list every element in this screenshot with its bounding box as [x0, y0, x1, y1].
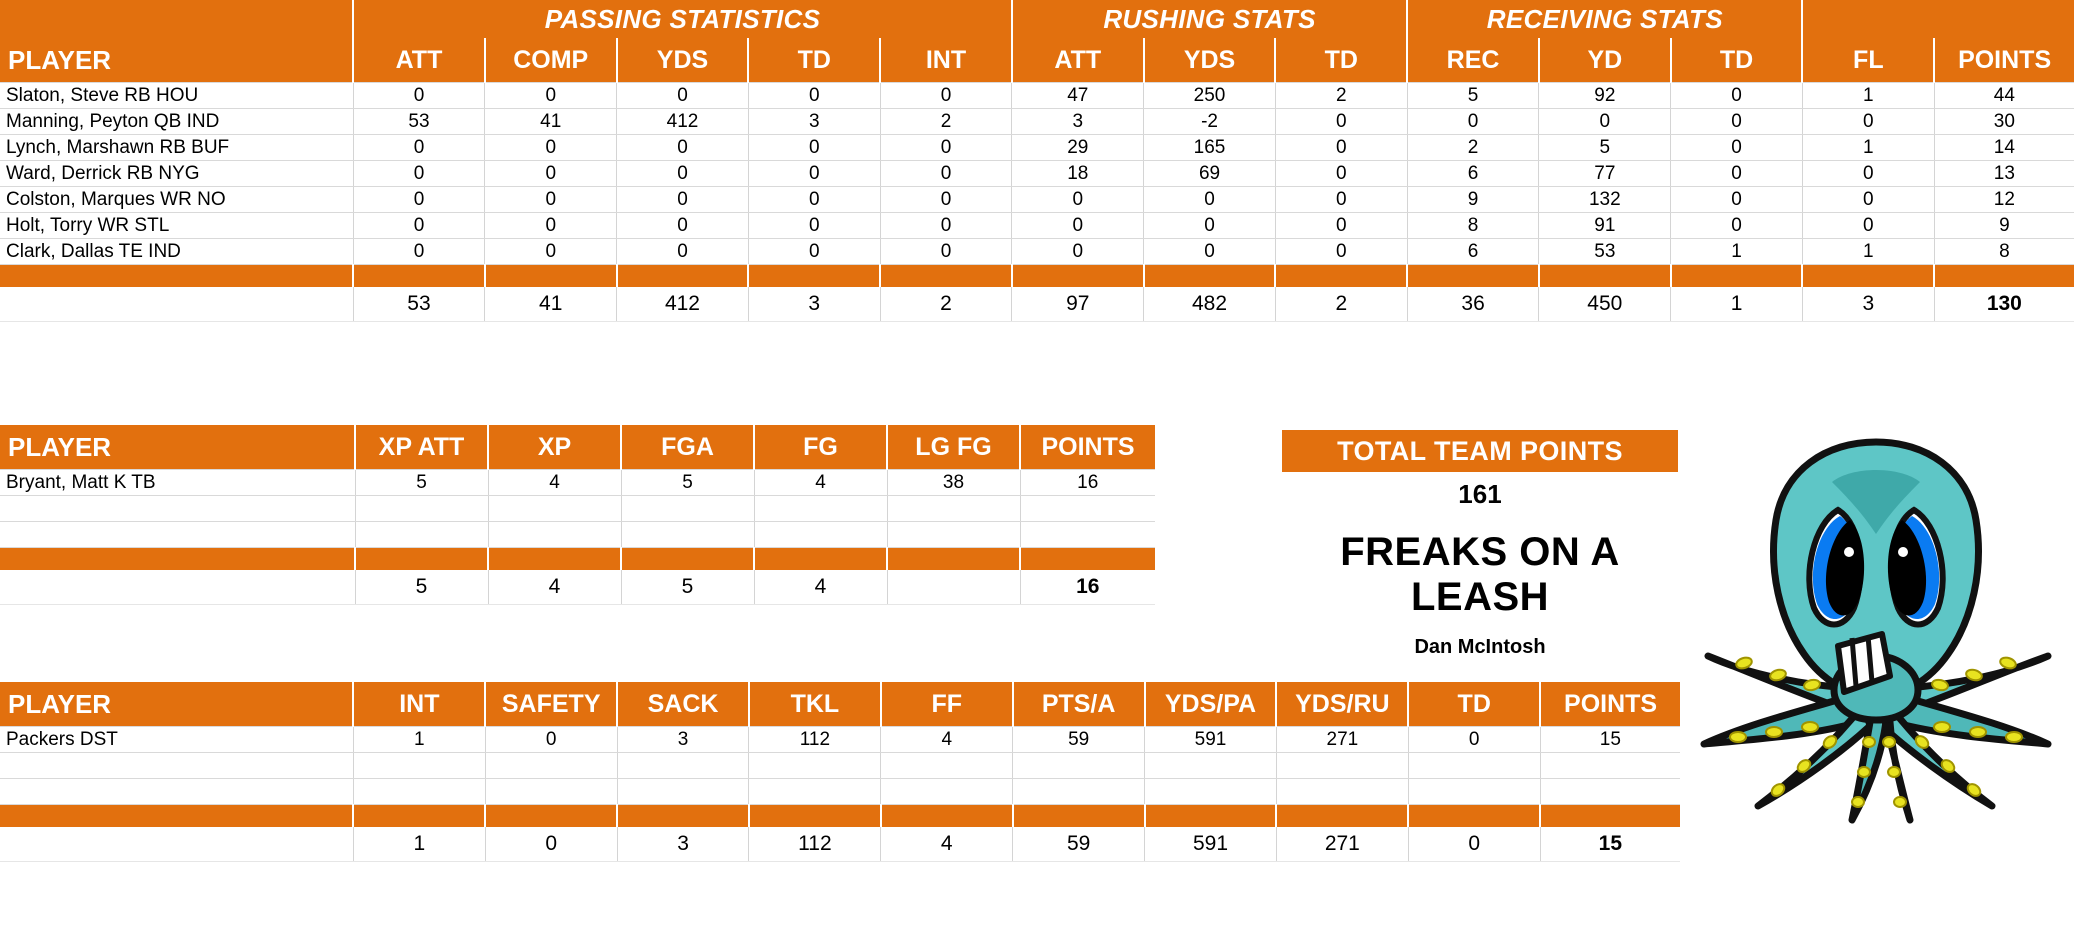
column-header-defense-player[interactable]: PLAYER	[0, 682, 353, 727]
empty-cell	[353, 753, 485, 779]
empty-cell	[1145, 779, 1277, 805]
total-cell: 97	[1012, 287, 1144, 322]
stat-cell: 271	[1276, 727, 1408, 753]
stat-cell: 0	[1275, 161, 1407, 187]
totals-separator-band	[0, 805, 1680, 828]
empty-cell	[488, 496, 621, 522]
column-header-rec-yd[interactable]: YD	[1539, 38, 1671, 83]
stat-cell: 6	[1407, 239, 1539, 265]
stat-cell: 3	[748, 109, 880, 135]
stat-cell: 77	[1539, 161, 1671, 187]
separator-cell	[887, 548, 1020, 571]
defense-table-body: Packers DST10311245959127101510311245959…	[0, 727, 1680, 862]
defense-stats-table: PLAYER INT SAFETY SACK TKL FF PTS/A YDS/…	[0, 682, 1680, 862]
stat-cell: 0	[617, 83, 749, 109]
total-cell: 53	[353, 287, 485, 322]
separator-cell	[1275, 265, 1407, 288]
stat-cell: 5	[355, 470, 488, 496]
total-cell: 4	[881, 827, 1013, 862]
stat-cell: 9	[1407, 187, 1539, 213]
totals-row: 5341412329748223645013130	[0, 287, 2074, 322]
total-cell: 5	[621, 570, 754, 605]
offense-stats-table: PASSING STATISTICS RUSHING STATS RECEIVI…	[0, 0, 2074, 322]
total-cell: 5	[355, 570, 488, 605]
separator-cell	[0, 548, 355, 571]
empty-row	[0, 496, 1155, 522]
stat-cell: 0	[485, 135, 617, 161]
stat-cell: 41	[485, 109, 617, 135]
stat-cell: 2	[880, 109, 1012, 135]
stat-cell: 165	[1144, 135, 1276, 161]
separator-cell	[488, 548, 621, 571]
stat-cell: 0	[1671, 109, 1803, 135]
totals-separator-band	[0, 265, 2074, 288]
table-row[interactable]: Clark, Dallas TE IND00000000653118	[0, 239, 2074, 265]
stat-cell: 0	[485, 213, 617, 239]
totals-row: 103112459591271015	[0, 827, 1680, 862]
octopus-mascot-icon	[1686, 424, 2066, 824]
stat-cell: 0	[1144, 187, 1276, 213]
stat-cell: 112	[749, 727, 881, 753]
total-cell: 2	[1275, 287, 1407, 322]
stat-cell: 132	[1539, 187, 1671, 213]
stat-cell: 1	[1802, 239, 1934, 265]
stat-cell: 0	[880, 187, 1012, 213]
separator-cell	[1013, 805, 1145, 828]
separator-cell	[355, 548, 488, 571]
stat-cell: 0	[617, 161, 749, 187]
stat-cell: 0	[748, 239, 880, 265]
separator-cell	[1539, 265, 1671, 288]
column-header-pass-comp[interactable]: COMP	[485, 38, 617, 83]
table-row[interactable]: Lynch, Marshawn RB BUF00000291650250114	[0, 135, 2074, 161]
empty-cell	[1540, 779, 1680, 805]
stat-cell: 0	[353, 187, 485, 213]
table-row[interactable]: Holt, Torry WR STL00000000891009	[0, 213, 2074, 239]
stat-cell: 0	[1802, 187, 1934, 213]
stat-cell: 0	[1802, 161, 1934, 187]
stat-cell: 0	[748, 213, 880, 239]
stat-cell: 0	[1012, 239, 1144, 265]
stat-cell: -2	[1144, 109, 1276, 135]
column-header-pass-int[interactable]: INT	[880, 38, 1012, 83]
empty-cell	[881, 779, 1013, 805]
empty-cell	[0, 522, 355, 548]
column-header-pass-td[interactable]: TD	[748, 38, 880, 83]
stat-cell: 0	[1275, 213, 1407, 239]
total-cell: 1	[1671, 287, 1803, 322]
column-header-pass-yds[interactable]: YDS	[617, 38, 749, 83]
stat-cell: 8	[1934, 239, 2074, 265]
empty-cell	[485, 779, 617, 805]
empty-cell	[355, 496, 488, 522]
column-header-def-int[interactable]: INT	[353, 682, 485, 727]
column-header-rush-yds[interactable]: YDS	[1144, 38, 1276, 83]
kicker-column-header-row: PLAYER XP ATT XP FGA FG LG FG POINTS	[0, 425, 1155, 470]
total-points-cell: 15	[1540, 827, 1680, 862]
separator-cell	[1540, 805, 1680, 828]
total-cell: 591	[1145, 827, 1277, 862]
totals-separator-band	[0, 548, 1155, 571]
empty-cell	[1276, 753, 1408, 779]
player-name-cell: Packers DST	[0, 727, 353, 753]
stat-cell: 2	[1275, 83, 1407, 109]
total-cell: 0	[1408, 827, 1540, 862]
stat-cell: 0	[1802, 109, 1934, 135]
empty-cell	[621, 522, 754, 548]
stat-cell: 0	[353, 239, 485, 265]
column-header-fg[interactable]: FG	[754, 425, 887, 470]
empty-cell	[1020, 522, 1155, 548]
stat-cell: 4	[488, 470, 621, 496]
empty-cell	[754, 522, 887, 548]
total-cell: 412	[617, 287, 749, 322]
separator-cell	[617, 265, 749, 288]
table-row[interactable]: Slaton, Steve RB HOU000004725025920144	[0, 83, 2074, 109]
stat-cell: 59	[1013, 727, 1145, 753]
separator-cell	[485, 805, 617, 828]
team-name: FREAKS ON A LEASH	[1282, 530, 1678, 620]
stat-cell: 0	[1671, 187, 1803, 213]
stat-cell: 1	[1802, 135, 1934, 161]
totals-label-cell	[0, 827, 353, 862]
player-name-cell: Manning, Peyton QB IND	[0, 109, 353, 135]
total-cell: 3	[617, 827, 749, 862]
separator-cell	[1012, 265, 1144, 288]
stat-cell: 591	[1145, 727, 1277, 753]
total-cell: 2	[880, 287, 1012, 322]
stat-cell: 0	[880, 213, 1012, 239]
separator-cell	[353, 805, 485, 828]
stat-cell: 53	[1539, 239, 1671, 265]
stat-cell: 0	[353, 161, 485, 187]
defense-column-header-row: PLAYER INT SAFETY SACK TKL FF PTS/A YDS/…	[0, 682, 1680, 727]
total-cell	[887, 570, 1020, 605]
total-points-cell: 16	[1020, 570, 1155, 605]
empty-cell	[1013, 753, 1145, 779]
separator-cell	[1020, 548, 1155, 571]
separator-cell	[485, 265, 617, 288]
total-points-cell: 130	[1934, 287, 2074, 322]
team-summary-panel: TOTAL TEAM POINTS 161 FREAKS ON A LEASH …	[1282, 430, 1678, 659]
separator-cell	[1145, 805, 1277, 828]
stat-cell: 0	[1144, 239, 1276, 265]
separator-cell	[617, 805, 749, 828]
group-header-receiving: RECEIVING STATS	[1407, 0, 1802, 38]
group-header-blank-right	[1802, 0, 2074, 38]
stat-cell: 92	[1539, 83, 1671, 109]
group-header-passing: PASSING STATISTICS	[353, 0, 1012, 38]
column-header-yds-rushing[interactable]: YDS/RU	[1276, 682, 1408, 727]
offense-column-header-row: PLAYER ATT COMP YDS TD INT ATT YDS TD RE…	[0, 38, 2074, 83]
stat-cell: 0	[353, 213, 485, 239]
stat-cell: 0	[1275, 109, 1407, 135]
stat-cell: 6	[1407, 161, 1539, 187]
empty-cell	[881, 753, 1013, 779]
table-row[interactable]: Ward, Derrick RB NYG00000186906770013	[0, 161, 2074, 187]
separator-cell	[749, 805, 881, 828]
stat-cell: 8	[1407, 213, 1539, 239]
stat-cell: 0	[485, 83, 617, 109]
player-name-cell: Lynch, Marshawn RB BUF	[0, 135, 353, 161]
player-name-cell: Colston, Marques WR NO	[0, 187, 353, 213]
separator-cell	[1802, 265, 1934, 288]
total-cell: 112	[749, 827, 881, 862]
stat-cell: 38	[887, 470, 1020, 496]
player-name-cell: Slaton, Steve RB HOU	[0, 83, 353, 109]
column-header-ff[interactable]: FF	[881, 682, 1013, 727]
separator-cell	[1144, 265, 1276, 288]
stat-cell: 0	[1012, 213, 1144, 239]
separator-cell	[880, 265, 1012, 288]
stat-cell: 1	[353, 727, 485, 753]
stat-cell: 250	[1144, 83, 1276, 109]
stat-cell: 412	[617, 109, 749, 135]
stat-cell: 0	[1275, 239, 1407, 265]
stat-cell: 0	[880, 83, 1012, 109]
total-cell: 271	[1276, 827, 1408, 862]
stat-cell: 3	[617, 727, 749, 753]
offense-table-body: Slaton, Steve RB HOU000004725025920144Ma…	[0, 83, 2074, 322]
empty-cell	[621, 496, 754, 522]
column-header-xp-att[interactable]: XP ATT	[355, 425, 488, 470]
column-header-fga[interactable]: FGA	[621, 425, 754, 470]
column-header-rec[interactable]: REC	[1407, 38, 1539, 83]
column-header-xp[interactable]: XP	[488, 425, 621, 470]
column-header-kicker-player[interactable]: PLAYER	[0, 425, 355, 470]
column-header-def-td[interactable]: TD	[1408, 682, 1540, 727]
separator-cell	[1407, 265, 1539, 288]
column-header-yds-passing[interactable]: YDS/PA	[1145, 682, 1277, 727]
stat-cell: 91	[1539, 213, 1671, 239]
column-header-pass-att[interactable]: ATT	[353, 38, 485, 83]
stat-cell: 0	[1275, 187, 1407, 213]
stat-cell: 0	[1275, 135, 1407, 161]
separator-cell	[748, 265, 880, 288]
empty-row	[0, 779, 1680, 805]
stat-cell: 15	[1540, 727, 1680, 753]
stat-cell: 4	[754, 470, 887, 496]
separator-cell	[621, 548, 754, 571]
stat-cell: 0	[1539, 109, 1671, 135]
separator-cell	[1408, 805, 1540, 828]
total-cell: 482	[1144, 287, 1276, 322]
total-cell: 59	[1013, 827, 1145, 862]
stat-cell: 13	[1934, 161, 2074, 187]
column-header-defense-points[interactable]: POINTS	[1540, 682, 1680, 727]
separator-cell	[1671, 265, 1803, 288]
stat-cell: 69	[1144, 161, 1276, 187]
total-team-points-header: TOTAL TEAM POINTS	[1282, 430, 1678, 472]
empty-row	[0, 522, 1155, 548]
totals-row: 545416	[0, 570, 1155, 605]
total-team-points-value: 161	[1282, 479, 1678, 510]
total-cell: 41	[485, 287, 617, 322]
empty-cell	[1408, 753, 1540, 779]
empty-cell	[353, 779, 485, 805]
separator-cell	[881, 805, 1013, 828]
total-cell: 3	[748, 287, 880, 322]
table-row[interactable]: Manning, Peyton QB IND5341412323-2000003…	[0, 109, 2074, 135]
stat-cell: 0	[353, 83, 485, 109]
team-owner-name: Dan McIntosh	[1282, 636, 1678, 659]
total-cell: 450	[1539, 287, 1671, 322]
stat-cell: 2	[1407, 135, 1539, 161]
column-header-rush-td[interactable]: TD	[1275, 38, 1407, 83]
empty-cell	[355, 522, 488, 548]
separator-cell	[1276, 805, 1408, 828]
stat-cell: 0	[1671, 213, 1803, 239]
empty-cell	[1540, 753, 1680, 779]
kicker-table-body: Bryant, Matt K TB54543816545416	[0, 470, 1155, 605]
stat-cell: 9	[1934, 213, 2074, 239]
empty-cell	[0, 753, 353, 779]
total-cell: 3	[1802, 287, 1934, 322]
stat-cell: 0	[485, 187, 617, 213]
column-header-safety[interactable]: SAFETY	[485, 682, 617, 727]
total-cell: 4	[488, 570, 621, 605]
stat-cell: 5	[1539, 135, 1671, 161]
totals-label-cell	[0, 287, 353, 322]
column-header-fl[interactable]: FL	[1802, 38, 1934, 83]
player-name-cell: Ward, Derrick RB NYG	[0, 161, 353, 187]
stat-cell: 0	[353, 135, 485, 161]
stat-cell: 0	[1671, 83, 1803, 109]
stat-cell: 1	[1802, 83, 1934, 109]
empty-cell	[488, 522, 621, 548]
column-header-rec-td[interactable]: TD	[1671, 38, 1803, 83]
empty-cell	[1408, 779, 1540, 805]
separator-cell	[1934, 265, 2074, 288]
total-cell: 4	[754, 570, 887, 605]
stat-cell: 0	[1408, 727, 1540, 753]
stat-cell: 3	[1012, 109, 1144, 135]
player-name-cell: Clark, Dallas TE IND	[0, 239, 353, 265]
column-header-pts-allowed[interactable]: PTS/A	[1013, 682, 1145, 727]
stat-cell: 0	[1012, 187, 1144, 213]
stat-cell: 0	[880, 161, 1012, 187]
stat-cell: 0	[485, 727, 617, 753]
stat-cell: 0	[1407, 109, 1539, 135]
stat-cell: 47	[1012, 83, 1144, 109]
stat-cell: 18	[1012, 161, 1144, 187]
empty-cell	[749, 779, 881, 805]
separator-cell	[0, 265, 353, 288]
stat-cell: 5	[621, 470, 754, 496]
stat-cell: 0	[485, 161, 617, 187]
stat-cell: 0	[617, 213, 749, 239]
column-header-sack[interactable]: SACK	[617, 682, 749, 727]
stat-cell: 0	[880, 239, 1012, 265]
empty-cell	[1276, 779, 1408, 805]
group-header-blank-left	[0, 0, 353, 38]
empty-cell	[749, 753, 881, 779]
stat-cell: 30	[1934, 109, 2074, 135]
stat-cell: 0	[617, 135, 749, 161]
empty-cell	[887, 496, 1020, 522]
group-header-rushing: RUSHING STATS	[1012, 0, 1407, 38]
stat-cell: 0	[880, 135, 1012, 161]
stat-cell: 0	[1802, 213, 1934, 239]
table-row[interactable]: Bryant, Matt K TB54543816	[0, 470, 1155, 496]
total-cell: 0	[485, 827, 617, 862]
stat-cell: 0	[1671, 135, 1803, 161]
stat-cell: 44	[1934, 83, 2074, 109]
stat-cell: 0	[1671, 161, 1803, 187]
total-cell: 1	[353, 827, 485, 862]
empty-cell	[754, 496, 887, 522]
offense-group-header-row: PASSING STATISTICS RUSHING STATS RECEIVI…	[0, 0, 2074, 38]
stat-cell: 0	[485, 239, 617, 265]
stat-cell: 0	[748, 135, 880, 161]
fantasy-stats-sheet: PASSING STATISTICS RUSHING STATS RECEIVI…	[0, 0, 2074, 927]
column-header-rush-att[interactable]: ATT	[1012, 38, 1144, 83]
column-header-player[interactable]: PLAYER	[0, 38, 353, 83]
stat-cell: 0	[748, 187, 880, 213]
stat-cell: 5	[1407, 83, 1539, 109]
empty-cell	[1013, 779, 1145, 805]
total-cell: 36	[1407, 287, 1539, 322]
empty-cell	[1020, 496, 1155, 522]
totals-label-cell	[0, 570, 355, 605]
empty-cell	[617, 779, 749, 805]
table-row[interactable]: Colston, Marques WR NO0000000091320012	[0, 187, 2074, 213]
stat-cell: 1	[1671, 239, 1803, 265]
empty-row	[0, 753, 1680, 779]
separator-cell	[754, 548, 887, 571]
column-header-kicker-points[interactable]: POINTS	[1020, 425, 1155, 470]
separator-cell	[353, 265, 485, 288]
stat-cell: 16	[1020, 470, 1155, 496]
stat-cell: 14	[1934, 135, 2074, 161]
empty-cell	[0, 779, 353, 805]
stat-cell: 0	[617, 239, 749, 265]
stat-cell: 12	[1934, 187, 2074, 213]
column-header-points[interactable]: POINTS	[1934, 38, 2074, 83]
empty-cell	[0, 496, 355, 522]
kicking-stats-table: PLAYER XP ATT XP FGA FG LG FG POINTS Bry…	[0, 425, 1155, 605]
stat-cell: 0	[748, 83, 880, 109]
empty-cell	[1145, 753, 1277, 779]
stat-cell: 53	[353, 109, 485, 135]
stat-cell: 0	[1144, 213, 1276, 239]
column-header-tkl[interactable]: TKL	[749, 682, 881, 727]
separator-cell	[0, 805, 353, 828]
stat-cell: 0	[617, 187, 749, 213]
column-header-lg-fg[interactable]: LG FG	[887, 425, 1020, 470]
empty-cell	[485, 753, 617, 779]
table-row[interactable]: Packers DST103112459591271015	[0, 727, 1680, 753]
stat-cell: 0	[748, 161, 880, 187]
player-name-cell: Holt, Torry WR STL	[0, 213, 353, 239]
empty-cell	[617, 753, 749, 779]
empty-cell	[887, 522, 1020, 548]
stat-cell: 29	[1012, 135, 1144, 161]
player-name-cell: Bryant, Matt K TB	[0, 470, 355, 496]
stat-cell: 4	[881, 727, 1013, 753]
